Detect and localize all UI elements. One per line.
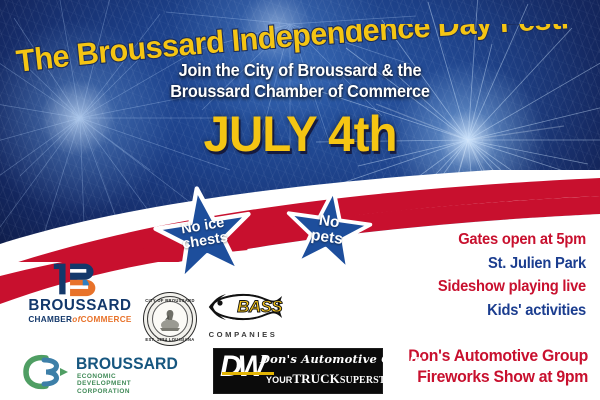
bass-wordmark: BASS bbox=[237, 297, 282, 317]
seal-bottom-text: EST. 1884 LOUISIANA bbox=[143, 337, 197, 342]
dons-monogram: DW bbox=[220, 352, 262, 382]
chamber-mark-icon bbox=[16, 258, 144, 298]
subtitle-line-2: Broussard Chamber of Commerce bbox=[21, 81, 579, 102]
dons-monogram-text: DW bbox=[220, 350, 262, 383]
logo-city-of-broussard-seal: CITY OF BROUSSARD EST. 1884 LOUISIANA bbox=[143, 292, 197, 346]
event-info-list: Gates open at 5pm St. Julien Park Sidesh… bbox=[286, 228, 586, 322]
dons-tagline-your: YOUR bbox=[266, 375, 292, 385]
dons-script-wordmark: Don's Automotive Group bbox=[260, 352, 422, 366]
chamber-sub-chamber: CHAMBER bbox=[28, 315, 72, 324]
dons-tagline: YOURTRUCKSUPERSTORE bbox=[266, 371, 407, 387]
poster-subtitle: Join the City of Broussard & the Broussa… bbox=[21, 60, 579, 102]
edc-mark-icon bbox=[22, 352, 72, 392]
festival-poster: The Broussard Independence Day Festival … bbox=[0, 0, 600, 400]
logo-bass-companies: BASS COMPANIES bbox=[200, 286, 286, 340]
bass-subtitle: COMPANIES bbox=[200, 330, 286, 339]
logo-dons-automotive-group: DW Don's Automotive Group YOURTRUCKSUPER… bbox=[213, 348, 383, 394]
edc-sub-line-2: CORPORATION bbox=[77, 388, 162, 395]
logo-broussard-chamber-of-commerce: BROUSSARD CHAMBERofCOMMERCE bbox=[16, 258, 144, 326]
seal-pelican-icon bbox=[156, 306, 184, 332]
dons-tagline-superstore: SUPERSTORE bbox=[340, 375, 408, 386]
chamber-sub-commerce: COMMERCE bbox=[81, 315, 132, 324]
seal-top-text: CITY OF BROUSSARD bbox=[143, 298, 197, 303]
subtitle-line-1: Join the City of Broussard & the bbox=[21, 60, 579, 81]
chamber-sub-of: of bbox=[72, 315, 80, 324]
edc-sub-line-1: ECONOMIC DEVELOPMENT bbox=[77, 373, 162, 388]
info-line-sideshow: Sideshow playing live bbox=[310, 275, 586, 299]
info-line-location: St. Julien Park bbox=[310, 252, 586, 276]
logo-broussard-economic-development: BROUSSARD ECONOMIC DEVELOPMENT CORPORATI… bbox=[22, 352, 162, 394]
info-line-kids: Kids' activities bbox=[310, 299, 586, 323]
dons-tagline-truck: TRUCK bbox=[292, 371, 339, 386]
info-line-gates: Gates open at 5pm bbox=[310, 228, 586, 252]
edc-subtitle: ECONOMIC DEVELOPMENT CORPORATION bbox=[77, 373, 162, 395]
badge-no-ice-chests: No ice chests bbox=[148, 179, 260, 289]
chamber-subtitle: CHAMBERofCOMMERCE bbox=[16, 315, 144, 325]
edc-name: BROUSSARD bbox=[76, 355, 178, 374]
event-date: JULY 4th bbox=[15, 108, 585, 160]
chamber-name: BROUSSARD bbox=[17, 298, 142, 314]
